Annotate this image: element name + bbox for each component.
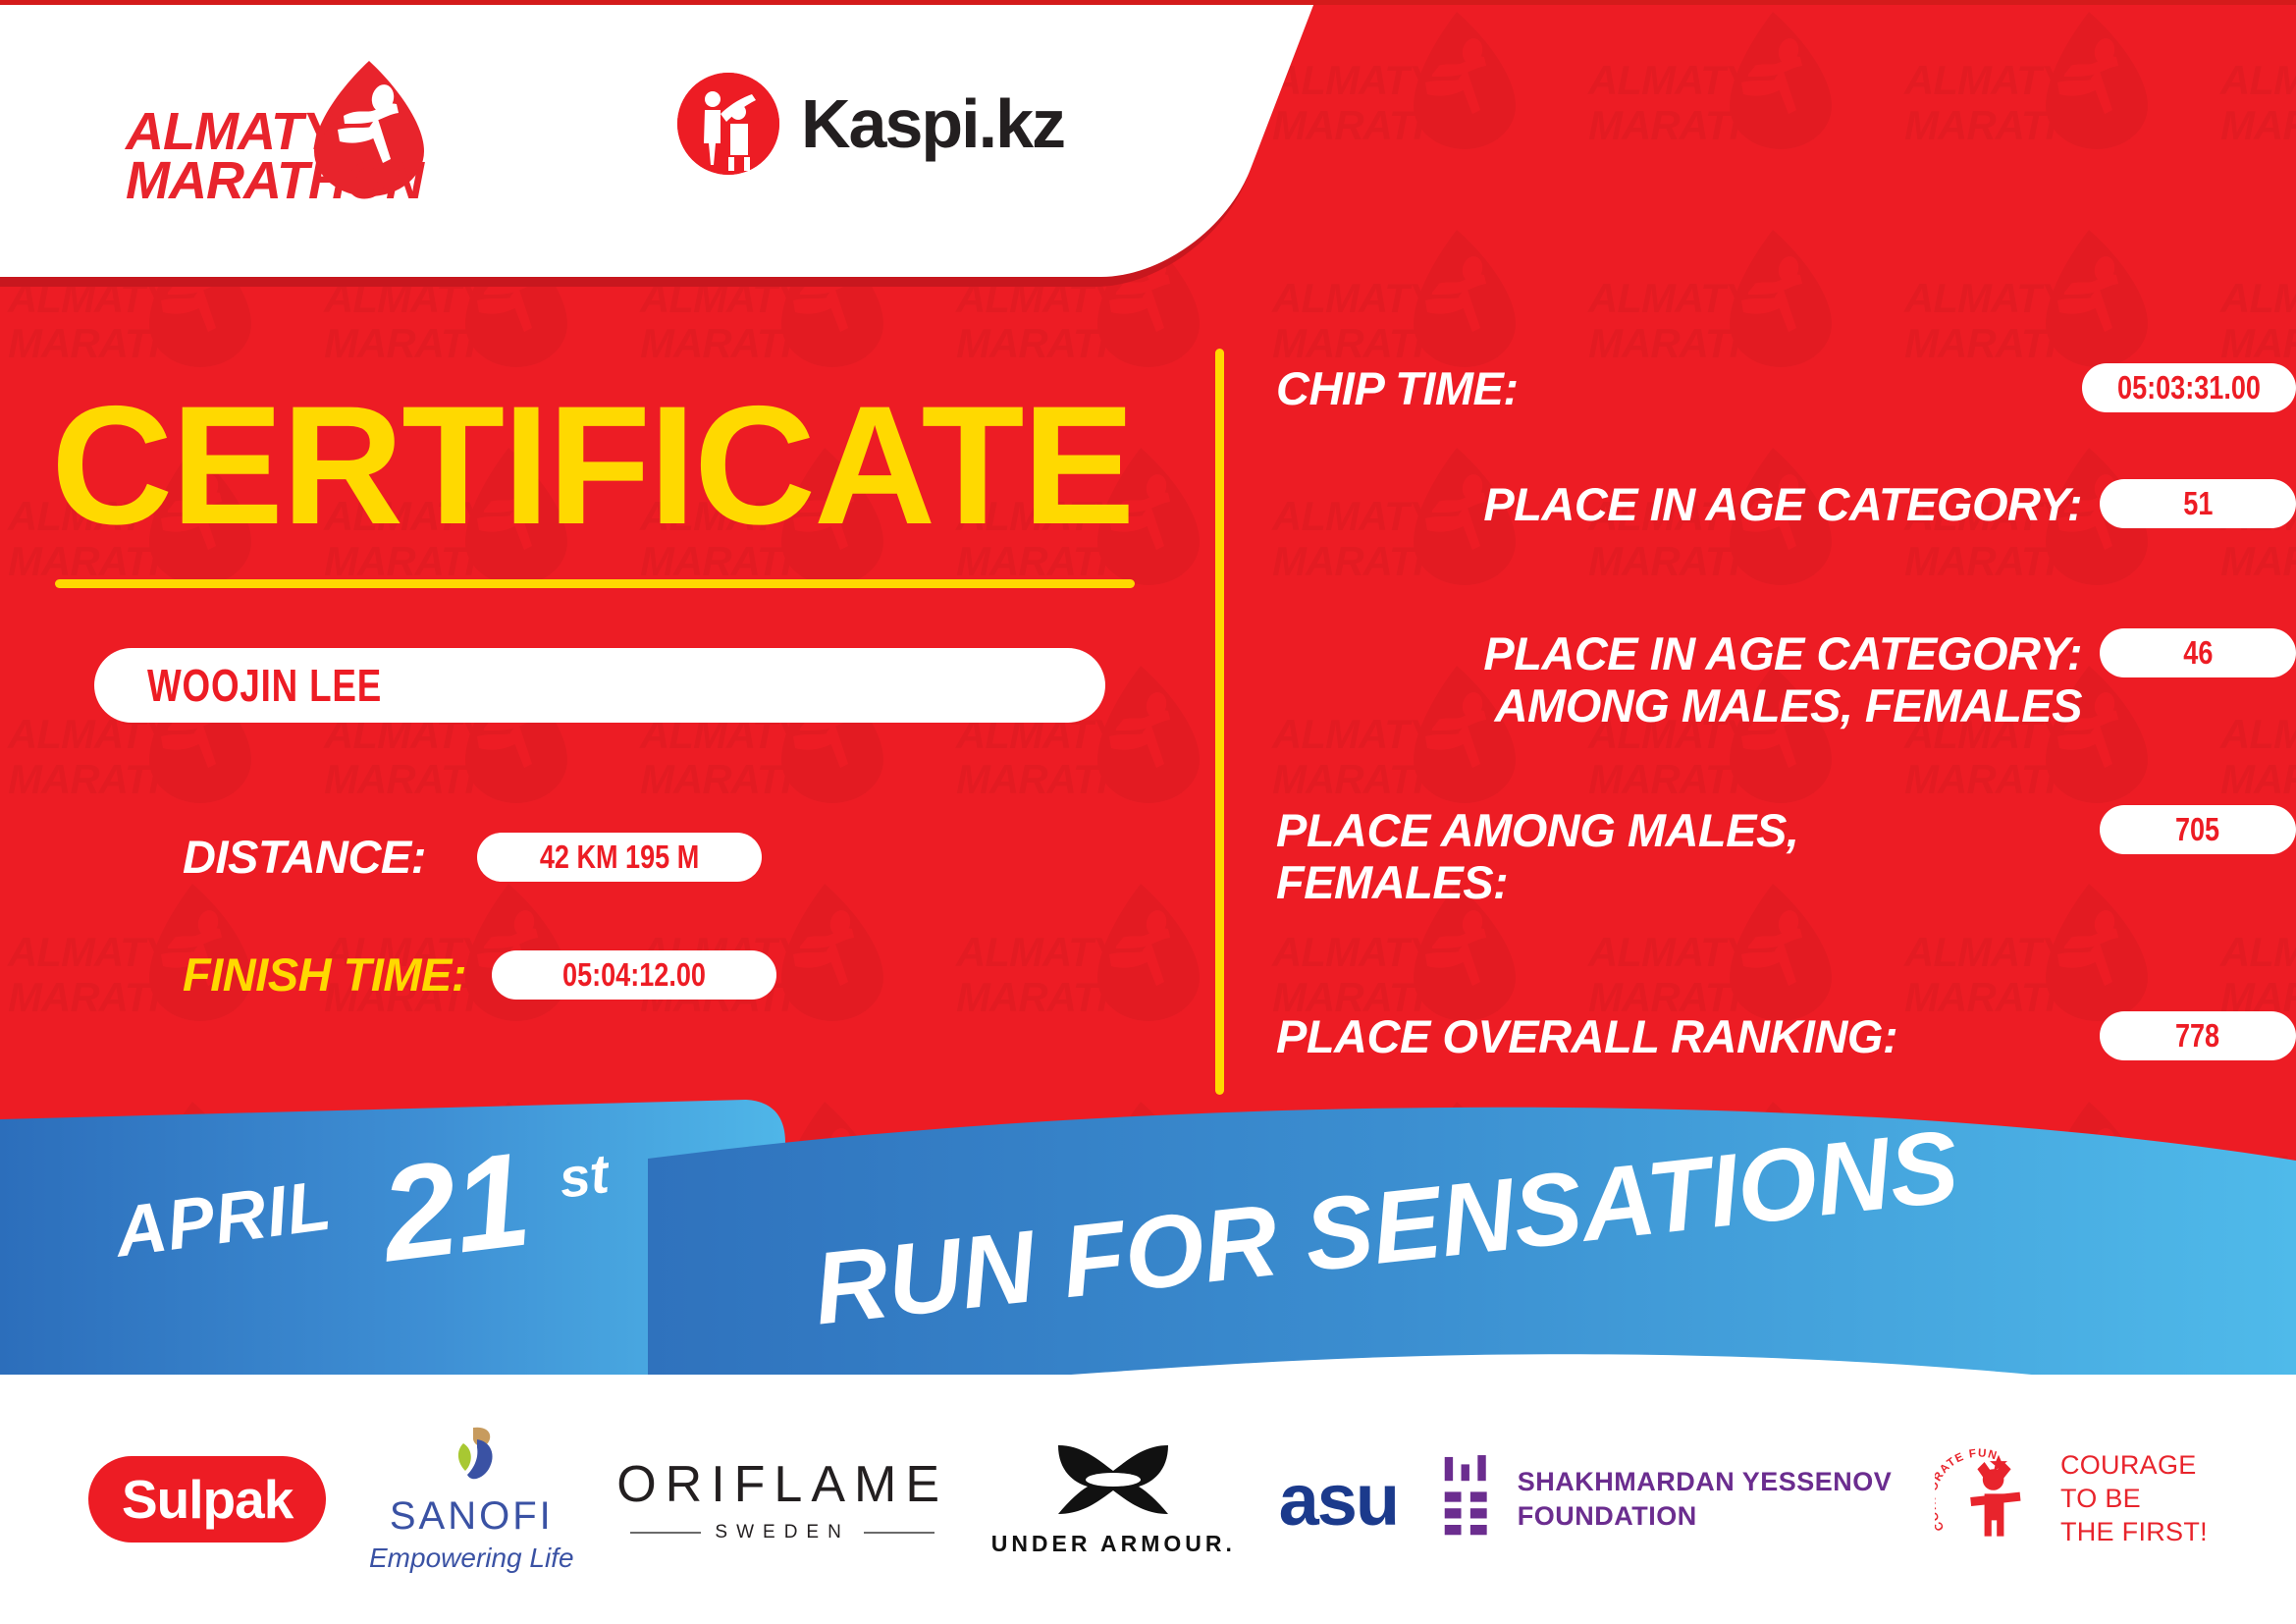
ribbon-day-suffix: st (556, 1141, 612, 1211)
result-label: PLACE IN AGE CATEGORY: (1276, 479, 2082, 531)
result-value-pill: 51 (2100, 479, 2296, 528)
result-row-place-age-category: PLACE IN AGE CATEGORY: 51 (1276, 479, 2296, 531)
finish-time-value-pill: 05:04:12.00 (492, 950, 776, 1000)
oriflame-rule-right (864, 1532, 934, 1534)
result-value: 46 (2183, 634, 2213, 672)
result-value: 51 (2183, 485, 2213, 522)
result-value: 705 (2175, 811, 2219, 848)
ribbon-day-number: 21 (373, 1122, 535, 1292)
oriflame-rule-left (630, 1532, 701, 1534)
under-armour-wordmark: UNDER ARMOUR. (991, 1531, 1236, 1557)
distance-row: DISTANCE: 42 KM 195 M (183, 830, 762, 884)
result-row-place-overall: PLACE OVERALL RANKING: 778 (1276, 1011, 2296, 1063)
distance-value: 42 KM 195 M (540, 839, 699, 876)
sponsor-sanofi: SANOFI Empowering Life (369, 1426, 574, 1574)
page-title: CERTIFICATE (51, 381, 1133, 550)
almaty-marathon-wordmark: ALMATY MARATHON (126, 108, 423, 205)
sponsor-yessenov-foundation: SHAKHMARDAN YESSENOV FOUNDATION (1441, 1455, 1893, 1544)
courage-logo-group: CORPORATE FUND COURAGE TO BE THE FIRST! (1935, 1444, 2208, 1555)
oriflame-wordmark: ORIFLAME (616, 1455, 948, 1514)
logo-line-marathon: MARATHON (126, 157, 423, 206)
yessenov-wordmark: SHAKHMARDAN YESSENOV FOUNDATION (1518, 1465, 1893, 1534)
kaspi-family-circle-icon (677, 73, 779, 175)
title-underline-rule (55, 579, 1135, 588)
asu-wordmark: asu (1279, 1458, 1399, 1542)
result-label: PLACE AMONG MALES, FEMALES: (1276, 805, 2082, 908)
result-value: 05:03:31.00 (2117, 369, 2261, 406)
finish-time-value: 05:04:12.00 (562, 956, 706, 994)
header-logos: ALMATY MARATHON Kaspi.kz (0, 0, 1178, 277)
sponsor-footer: Sulpak SANOFI Empowering Life ORIFLAME S… (0, 1375, 2296, 1624)
yellow-vertical-divider (1215, 349, 1224, 1095)
sponsor-asu: asu (1279, 1458, 1399, 1542)
kaspi-logo: Kaspi.kz (677, 73, 1064, 175)
sponsor-oriflame: ORIFLAME SWEDEN (616, 1455, 948, 1543)
sulpak-logo: Sulpak (88, 1456, 326, 1543)
result-row-place-among-gender: PLACE AMONG MALES, FEMALES: 705 (1276, 805, 2296, 908)
kaspi-wordmark: Kaspi.kz (801, 84, 1064, 163)
almaty-marathon-logo: ALMATY MARATHON (126, 59, 450, 226)
sanofi-mark-icon (444, 1426, 499, 1489)
result-label: PLACE OVERALL RANKING: (1276, 1011, 2082, 1063)
courage-line-1: COURAGE (2060, 1449, 2208, 1483)
finish-time-row: FINISH TIME: 05:04:12.00 (183, 947, 776, 1001)
under-armour-icon (1054, 1441, 1172, 1523)
distance-value-pill: 42 KM 195 M (477, 833, 762, 882)
result-value: 778 (2175, 1017, 2219, 1055)
yessenov-mark-icon (1441, 1455, 1496, 1544)
result-row-chip-time: CHIP TIME: 05:03:31.00 (1276, 363, 2296, 415)
result-row-place-age-category-gender: PLACE IN AGE CATEGORY: AMONG MALES, FEMA… (1276, 628, 2296, 731)
result-label: CHIP TIME: (1276, 363, 2064, 415)
sanofi-tagline: Empowering Life (369, 1543, 574, 1574)
sponsor-courage-fund: CORPORATE FUND COURAGE TO BE THE FIRST! (1935, 1444, 2208, 1555)
courage-runner-icon: CORPORATE FUND (1935, 1444, 2045, 1555)
finish-time-label: FINISH TIME: (183, 947, 466, 1001)
participant-name-value: WOOJIN LEE (147, 659, 382, 712)
sanofi-wordmark: SANOFI (390, 1494, 554, 1539)
courage-wordmark: COURAGE TO BE THE FIRST! (2060, 1449, 2208, 1548)
sponsor-under-armour: UNDER ARMOUR. (991, 1441, 1236, 1557)
oriflame-sub: SWEDEN (630, 1522, 934, 1543)
top-red-rule (0, 0, 2296, 5)
logo-line-almaty: ALMATY (126, 108, 423, 157)
result-label: PLACE IN AGE CATEGORY: AMONG MALES, FEMA… (1276, 628, 2082, 731)
yessenov-logo-group: SHAKHMARDAN YESSENOV FOUNDATION (1441, 1455, 1893, 1544)
participant-name-field: WOOJIN LEE (94, 648, 1105, 723)
result-value-pill: 05:03:31.00 (2082, 363, 2296, 412)
courage-line-2: TO BE (2060, 1483, 2208, 1516)
sponsor-sulpak: Sulpak (88, 1456, 326, 1543)
courage-line-3: THE FIRST! (2060, 1516, 2208, 1549)
oriflame-country: SWEDEN (715, 1522, 849, 1543)
result-value-pill: 46 (2100, 628, 2296, 677)
certificate-root: ALMATY MARATHON Kaspi.kz CER (0, 0, 2296, 1624)
result-value-pill: 705 (2100, 805, 2296, 854)
distance-label: DISTANCE: (183, 830, 426, 884)
result-value-pill: 778 (2100, 1011, 2296, 1060)
